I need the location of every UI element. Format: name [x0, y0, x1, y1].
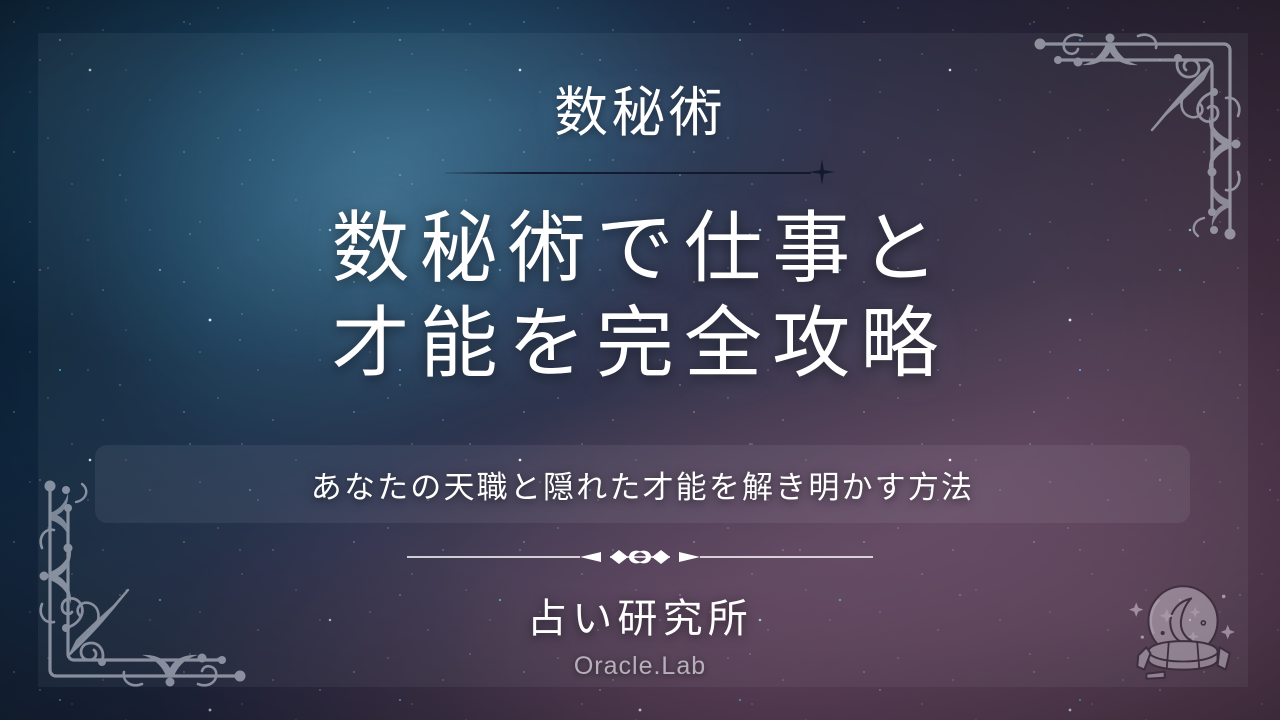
subtitle-text: あなたの天職と隠れた才能を解き明かす方法 [311, 462, 974, 507]
brand-name-en: Oracle.Lab [574, 652, 706, 681]
divider-line [445, 172, 811, 174]
brand-name-ja: 占い研究所 [527, 586, 753, 644]
eyebrow-divider [445, 161, 835, 183]
banner-footer: 占い研究所 Oracle.Lab [0, 548, 1280, 681]
ornamental-divider-icon [405, 548, 875, 566]
title-line-1: 数秘術で仕事と [332, 205, 949, 292]
four-point-star-icon [809, 159, 835, 185]
title-line-2: 才能を完全攻略 [332, 296, 949, 391]
banner-canvas: 数秘術 数秘術で仕事と 才能を完全攻略 あなたの天職と隠れた才能を解き明かす方法 [0, 0, 1280, 720]
page-title: 数秘術で仕事と 才能を完全攻略 [332, 201, 949, 391]
crystal-ball-icon [1122, 570, 1244, 692]
eyebrow-title: 数秘術 [554, 68, 726, 147]
subtitle-band: あなたの天職と隠れた才能を解き明かす方法 [95, 445, 1190, 523]
